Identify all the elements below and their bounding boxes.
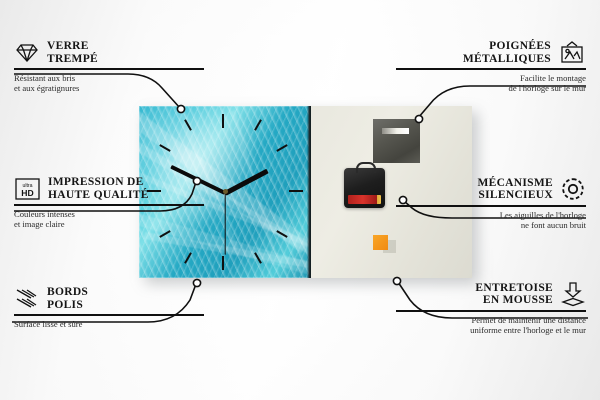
feature-title-line2: EN MOUSSE bbox=[475, 294, 553, 307]
feature-title-line2: SILENCIEUX bbox=[477, 189, 553, 202]
feature-desc-line2: de l'horloge sur le mur bbox=[396, 83, 586, 93]
feature-desc-line1: Permet de maintenir une distance bbox=[396, 315, 586, 325]
feature-title-line2: POLIS bbox=[47, 299, 88, 312]
feature-heading: BORDS POLIS bbox=[14, 286, 204, 311]
feature-heading: ENTRETOISE EN MOUSSE bbox=[396, 281, 586, 307]
feature-title-line1: BORDS bbox=[47, 286, 88, 299]
feature-desc-line1: Résistant aux bris bbox=[14, 73, 204, 83]
feature-desc-line2: ne font aucun bruit bbox=[396, 220, 586, 230]
infographic-canvas: VERRE TREMPÉ Résistant aux bris et aux é… bbox=[0, 0, 600, 400]
feature-heading: MÉCANISME SILENCIEUX bbox=[396, 176, 586, 202]
feature-title-line1: MÉCANISME bbox=[477, 177, 553, 190]
feature-title-line2: MÉTALLIQUES bbox=[463, 53, 551, 66]
feature-verre-trempe: VERRE TREMPÉ Résistant aux bris et aux é… bbox=[14, 40, 204, 93]
feature-title-line2: TREMPÉ bbox=[47, 53, 98, 66]
feature-poignees-metalliques: POIGNÉES MÉTALLIQUES Facilite le montage… bbox=[396, 40, 586, 93]
feature-heading: ultra HD IMPRESSION DE HAUTE QUALITÉ bbox=[14, 176, 204, 201]
feature-title-line1: POIGNÉES bbox=[463, 40, 551, 53]
feature-title-line1: ENTRETOISE bbox=[475, 282, 553, 295]
feature-title-line1: VERRE bbox=[47, 40, 98, 53]
feature-divider bbox=[14, 68, 204, 70]
feature-title-line2: HAUTE QUALITÉ bbox=[48, 189, 149, 202]
feature-desc-line2: et image claire bbox=[14, 219, 204, 229]
feature-desc-line1: Les aiguilles de l'horloge bbox=[396, 210, 586, 220]
feature-divider bbox=[14, 314, 204, 316]
svg-text:HD: HD bbox=[21, 188, 33, 198]
feature-heading: VERRE TREMPÉ bbox=[14, 40, 204, 65]
feature-desc-line2: et aux égratignures bbox=[14, 83, 204, 93]
feature-bords-polis: BORDS POLIS Surface lisse et sûre bbox=[14, 286, 204, 329]
foam-spacer-icon bbox=[560, 281, 586, 307]
feature-desc-line2: uniforme entre l'horloge et le mur bbox=[396, 325, 586, 335]
feature-divider bbox=[396, 205, 586, 207]
polished-edges-icon bbox=[14, 288, 40, 310]
feature-divider bbox=[396, 310, 586, 312]
feature-divider bbox=[14, 204, 204, 206]
feature-heading: POIGNÉES MÉTALLIQUES bbox=[396, 40, 586, 65]
feature-desc-line1: Facilite le montage bbox=[396, 73, 586, 83]
feature-entretoise-en-mousse: ENTRETOISE EN MOUSSE Permet de maintenir… bbox=[396, 281, 586, 335]
gear-icon bbox=[560, 176, 586, 202]
feature-impression-haute-qualite: ultra HD IMPRESSION DE HAUTE QUALITÉ Cou… bbox=[14, 176, 204, 229]
feature-desc-line1: Surface lisse et sûre bbox=[14, 319, 204, 329]
feature-title-line1: IMPRESSION DE bbox=[48, 176, 149, 189]
feature-desc-line1: Couleurs intenses bbox=[14, 209, 204, 219]
feature-divider bbox=[396, 68, 586, 70]
feature-mecanisme-silencieux: MÉCANISME SILENCIEUX Les aiguilles de l'… bbox=[396, 176, 586, 230]
ultra-hd-icon: ultra HD bbox=[14, 177, 41, 201]
picture-hanger-icon bbox=[558, 41, 586, 65]
diamond-icon bbox=[14, 43, 40, 63]
